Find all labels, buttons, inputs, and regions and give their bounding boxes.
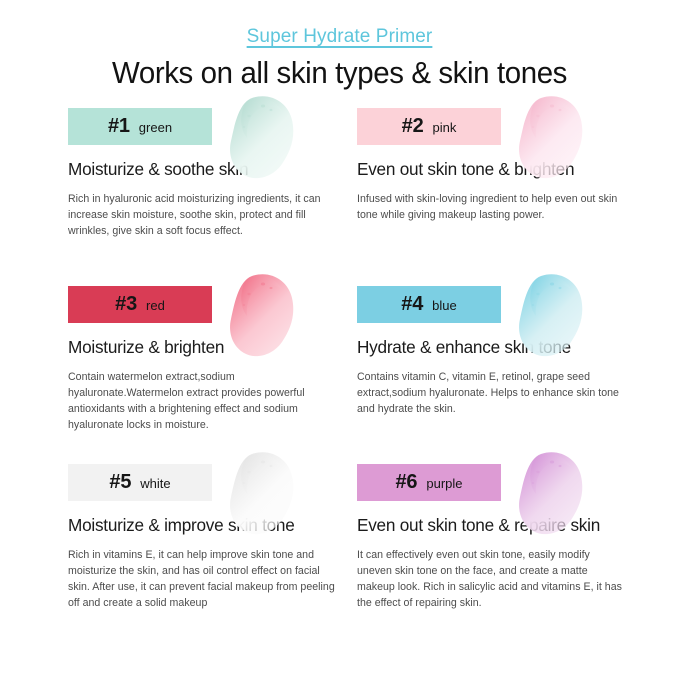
shade-description: Infused with skin-loving ingredient to h…: [357, 191, 625, 223]
shade-description-text: Rich in hyaluronic acid moisturizing ing…: [68, 191, 336, 239]
shade-description: Contain watermelon extract,sodium hyalur…: [68, 369, 336, 433]
shade-card-purple: #6purpleEven out skin tone & repaire ski…: [357, 464, 646, 642]
shade-number: #3: [115, 294, 137, 314]
shade-benefit-heading: Moisturize & improve skin tone: [68, 515, 357, 536]
shade-benefit-heading: Even out skin tone & brighten: [357, 159, 646, 180]
shade-band-pink: #2pink: [357, 108, 501, 145]
shade-card-blue: #4blueHydrate & enhance skin toneContain…: [357, 286, 646, 464]
shade-name: purple: [426, 477, 462, 490]
shade-card-pink: #2pinkEven out skin tone & brightenInfus…: [357, 108, 646, 286]
page-title: Works on all skin types & skin tones: [12, 57, 667, 90]
shade-number: #6: [396, 472, 418, 492]
shade-description-text: Rich in vitamins E, it can help improve …: [68, 547, 336, 611]
shade-band-purple: #6purple: [357, 464, 501, 501]
shade-card-white: #5whiteMoisturize & improve skin toneRic…: [68, 464, 357, 642]
shade-description: It can effectively even out skin tone, e…: [357, 547, 625, 611]
page-header: Super Hydrate Primer Works on all skin t…: [0, 0, 679, 90]
shade-name: white: [140, 477, 170, 490]
shade-name: red: [146, 299, 165, 312]
shade-name: green: [139, 121, 172, 134]
shade-benefit-heading: Hydrate & enhance skin tone: [357, 337, 646, 358]
shade-card-grid: #1greenMoisturize & soothe skinRich in h…: [0, 108, 679, 642]
shade-number: #4: [401, 294, 423, 314]
shade-description-text: Contains vitamin C, vitamin E, retinol, …: [357, 369, 625, 417]
shade-description-text: It can effectively even out skin tone, e…: [357, 547, 625, 611]
shade-number: #1: [108, 116, 130, 136]
shade-benefit-heading: Even out skin tone & repaire skin: [357, 515, 646, 536]
shade-band-white: #5white: [68, 464, 212, 501]
shade-band-green: #1green: [68, 108, 212, 145]
shade-name: blue: [432, 299, 457, 312]
shade-band-red: #3red: [68, 286, 212, 323]
shade-description: Rich in hyaluronic acid moisturizing ing…: [68, 191, 336, 239]
shade-card-red: #3redMoisturize & brightenContain waterm…: [68, 286, 357, 464]
infographic-page: Super Hydrate Primer Works on all skin t…: [0, 0, 679, 679]
shade-band-blue: #4blue: [357, 286, 501, 323]
shade-description-text: Contain watermelon extract,sodium hyalur…: [68, 369, 336, 433]
product-name-eyebrow: Super Hydrate Primer: [247, 26, 433, 48]
shade-name: pink: [433, 121, 457, 134]
shade-benefit-heading: Moisturize & soothe skin: [68, 159, 357, 180]
shade-card-green: #1greenMoisturize & soothe skinRich in h…: [68, 108, 357, 286]
shade-number: #2: [402, 116, 424, 136]
shade-number: #5: [109, 472, 131, 492]
shade-benefit-heading: Moisturize & brighten: [68, 337, 357, 358]
shade-description: Contains vitamin C, vitamin E, retinol, …: [357, 369, 625, 417]
shade-description-text: Infused with skin-loving ingredient to h…: [357, 191, 625, 223]
shade-description: Rich in vitamins E, it can help improve …: [68, 547, 336, 611]
